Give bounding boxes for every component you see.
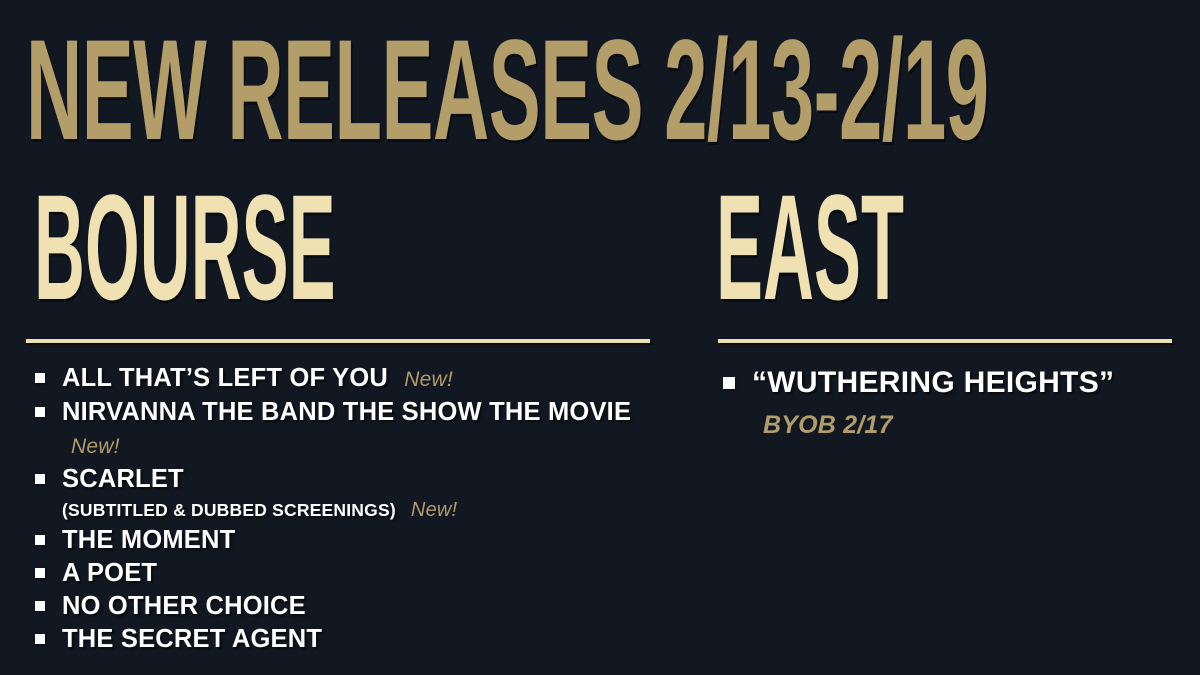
bullet-square-icon [35, 474, 45, 484]
divider-bourse [26, 339, 650, 343]
movie-title: NIRVANNA THE BAND THE SHOW THE MOVIE [62, 398, 631, 426]
movie-title: THE MOMENT [62, 526, 235, 554]
list-item[interactable]: NO OTHER CHOICE [26, 590, 676, 623]
list-item[interactable]: NIRVANNA THE BAND THE SHOW THE MOVIE New… [26, 396, 676, 463]
list-item[interactable]: ALL THAT’S LEFT OF YOU New! [26, 362, 676, 396]
bullet-square-icon [35, 568, 45, 578]
movie-subtitle-line: (SUBTITLED & DUBBED SCREENINGS) New! [62, 496, 676, 524]
list-item[interactable]: SCARLET (SUBTITLED & DUBBED SCREENINGS) … [26, 463, 676, 524]
movie-note-badge: New! [404, 368, 453, 391]
movie-list-bourse: ALL THAT’S LEFT OF YOU New! NIRVANNA THE… [26, 362, 676, 656]
list-item[interactable]: “WUTHERING HEIGHTS” BYOB 2/17 [714, 362, 1184, 446]
movie-note-badge: BYOB 2/17 [763, 411, 893, 439]
bullet-square-icon [35, 535, 45, 545]
movie-list-east: “WUTHERING HEIGHTS” BYOB 2/17 [714, 362, 1184, 446]
column-heading-bourse: BOURSE [34, 172, 336, 322]
movie-title: SCARLET [62, 465, 184, 493]
movie-subtitle: (SUBTITLED & DUBBED SCREENINGS) [62, 500, 396, 520]
movie-title: “WUTHERING HEIGHTS” [752, 366, 1114, 399]
list-item[interactable]: THE SECRET AGENT [26, 623, 676, 656]
divider-east [718, 339, 1172, 343]
column-heading-east: EAST [716, 172, 904, 322]
bullet-square-icon [35, 373, 45, 383]
bullet-square-icon [723, 377, 735, 389]
bullet-square-icon [35, 407, 45, 417]
movie-title: ALL THAT’S LEFT OF YOU [62, 364, 388, 392]
list-item[interactable]: A POET [26, 557, 676, 590]
movie-note-badge: New! [411, 499, 457, 521]
page-title: NEW RELEASES 2/13-2/19 [26, 16, 647, 166]
movie-note-badge: New! [71, 435, 120, 458]
movie-title: NO OTHER CHOICE [62, 592, 306, 620]
bullet-square-icon [35, 634, 45, 644]
list-item[interactable]: THE MOMENT [26, 524, 676, 557]
movie-title: THE SECRET AGENT [62, 625, 322, 653]
bullet-square-icon [35, 601, 45, 611]
slide-canvas: NEW RELEASES 2/13-2/19 BOURSE ALL THAT’S… [0, 0, 1200, 675]
movie-title: A POET [62, 559, 157, 587]
